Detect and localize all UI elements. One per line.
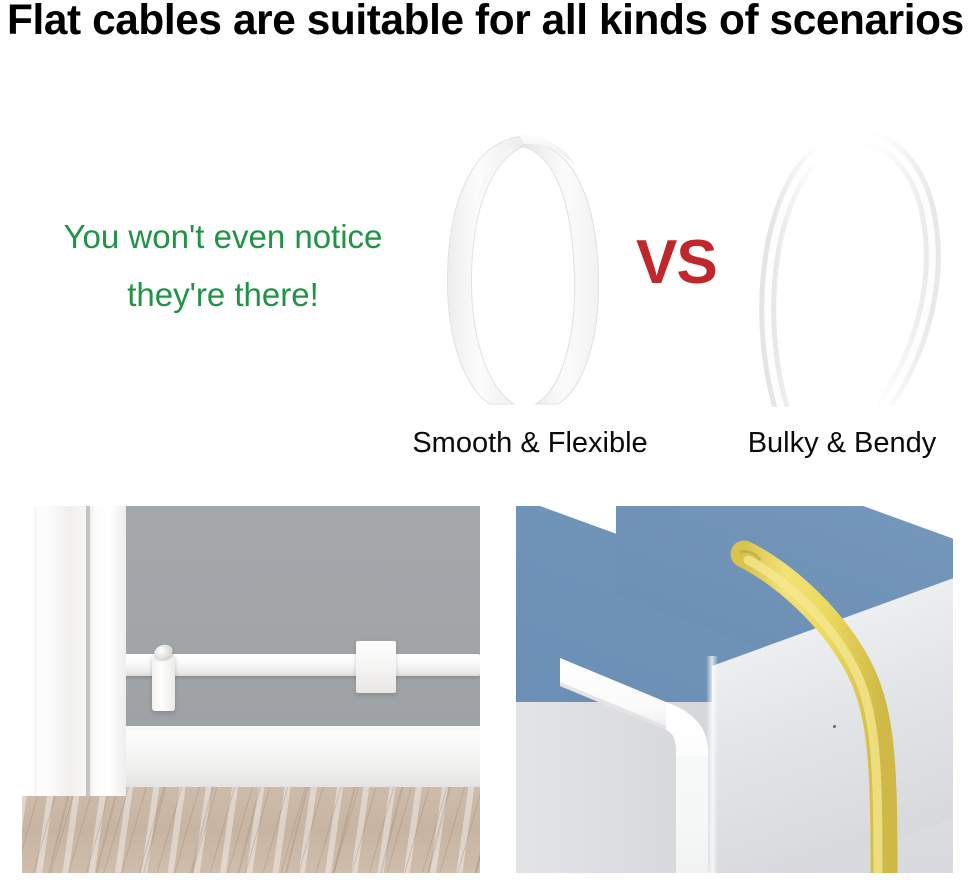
- door-casing-shadow: [86, 506, 90, 796]
- caption-smooth-flexible: Smooth & Flexible: [350, 426, 710, 460]
- wood-floor: [22, 787, 480, 873]
- caption-bulky-bendy: Bulky & Bendy: [662, 426, 973, 460]
- flat-cable-loop-figure: [428, 122, 618, 407]
- door-casing: [86, 506, 126, 796]
- clip-body: [152, 655, 175, 711]
- flat-cable-along-baseboard-photo: [22, 506, 480, 873]
- slogan-block: You won't even notice they're there!: [28, 208, 418, 324]
- page-title: Flat cables are suitable for all kinds o…: [7, 0, 959, 43]
- round-cable-loop-icon: [757, 122, 947, 407]
- cable-clip-block: [356, 641, 396, 693]
- round-cable-loop-figure: [757, 122, 947, 407]
- versus-label: VS: [636, 232, 717, 294]
- door-panel: [22, 506, 86, 796]
- flat-vs-round-cable-on-corner-photo: [516, 506, 953, 873]
- door-panel-groove: [34, 506, 37, 796]
- cable-clip-with-screw: [140, 637, 190, 711]
- slogan-line-1: You won't even notice: [64, 218, 383, 255]
- flat-cable-loop-icon: [428, 122, 618, 407]
- yellow-round-cable-on-corner: [516, 506, 953, 873]
- slogan-line-2: they're there!: [28, 266, 418, 324]
